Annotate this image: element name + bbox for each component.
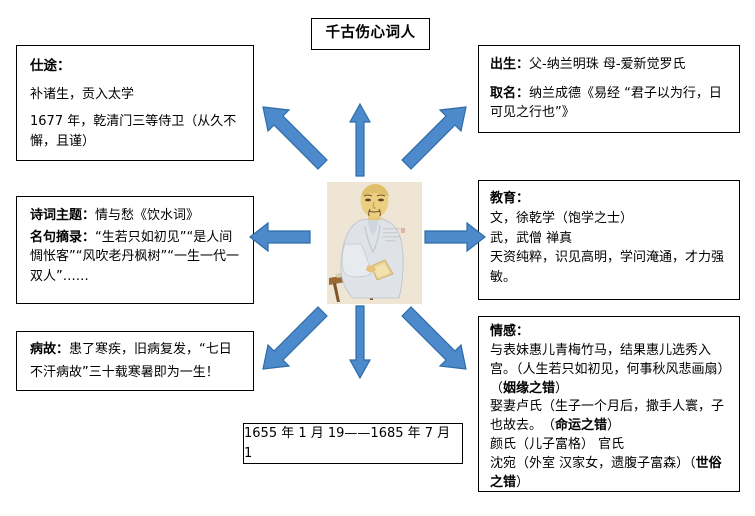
education-line-1: 文，徐乾学（饱学之士）	[490, 209, 730, 229]
career-line-2: 1677 年，乾清门三等侍卫（从久不懈，且谨）	[30, 112, 242, 151]
lifespan-date-box: 1655 年 1 月 19——1685 年 7 月 1	[243, 423, 463, 464]
education-box: 教育： 文，徐乾学（饱学之士） 武，武僧 禅真 天资纯粹，识见高明，学问淹通，才…	[478, 180, 740, 300]
death-box: 病故：患了寒疾，旧病复发，“七日不汗病故”三十载寒暑即为一生！	[16, 331, 254, 391]
emotion-box: 情感： 与表妹惠儿青梅竹马，结果惠儿选秀入宫。（人生若只如初见，何事秋风悲画扇）…	[478, 316, 740, 492]
emotion-bold-1: 姻缘之错	[503, 381, 555, 396]
birth-box: 出生：父-纳兰明珠 母-爱新觉罗氏 取名：纳兰成德《易经 “君子以为行，日可见之…	[478, 45, 740, 133]
emotion-line-2-tail: ）	[607, 418, 620, 433]
arrow-right-icon	[424, 222, 486, 252]
birth-heading: 出生：	[490, 57, 529, 72]
naming-heading: 取名：	[490, 86, 529, 101]
poetry-box: 诗词主题：情与愁《饮水词》 名句摘录：“生若只如初见”“是人间惆怅客”“风吹老丹…	[16, 196, 254, 304]
poetry-theme-text: 情与愁《饮水词》	[95, 208, 199, 223]
education-line-3: 天资纯粹，识见高明，学问淹通，才力强敏。	[490, 248, 730, 288]
career-line-1: 补诸生，贡入太学	[30, 85, 242, 105]
arrow-up-right-icon	[397, 106, 467, 176]
death-heading: 病故：	[30, 342, 69, 357]
lifespan-text: 1655 年 1 月 19——1685 年 7 月 1	[244, 424, 462, 463]
diagram-canvas: 千古伤心词人 仕途： 补诸生，贡入太学 1677 年，乾清门三等侍卫（从久不懈，…	[0, 0, 755, 516]
emotion-heading: 情感：	[490, 324, 529, 339]
title-box: 千古伤心词人	[311, 18, 430, 50]
birth-text: 父-纳兰明珠 母-爱新觉罗氏	[529, 57, 686, 72]
arrow-down-right-icon	[397, 300, 467, 370]
arrow-left-icon	[249, 222, 311, 252]
emotion-line-3: 颜氏（儿子富格） 官氏	[490, 436, 731, 455]
arrow-up-icon	[349, 103, 371, 177]
portrait-image	[327, 182, 422, 304]
career-box: 仕途： 补诸生，贡入太学 1677 年，乾清门三等侍卫（从久不懈，且谨）	[16, 45, 254, 161]
page-title: 千古伤心词人	[326, 23, 416, 45]
emotion-line-4: 沈宛（外室 汉家女，遗腹子富森）（	[490, 456, 696, 471]
emotion-line-1-tail: ）	[555, 381, 568, 396]
poetry-heading-theme: 诗词主题：	[30, 208, 95, 223]
career-heading: 仕途：	[30, 58, 71, 74]
arrow-down-left-icon	[262, 300, 332, 370]
education-heading: 教育：	[490, 191, 529, 206]
arrow-down-icon	[349, 305, 371, 379]
emotion-line-4-tail: ）	[516, 475, 529, 490]
poetry-heading-quotes: 名句摘录：	[30, 230, 95, 245]
emotion-bold-2: 命运之错	[555, 418, 607, 433]
arrow-up-left-icon	[262, 106, 332, 176]
education-line-2: 武，武僧 禅真	[490, 229, 730, 249]
